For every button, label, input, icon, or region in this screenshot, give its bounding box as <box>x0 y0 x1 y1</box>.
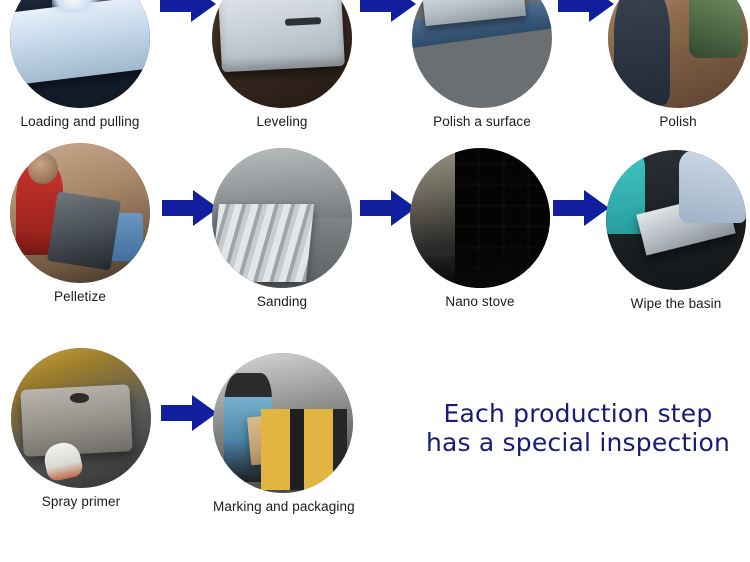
arrow-right-icon <box>360 188 416 228</box>
step-label: Spray primer <box>11 494 151 509</box>
wipe-the-basin-photo <box>606 150 746 290</box>
arrow-right-icon <box>553 188 609 228</box>
step-polish[interactable]: Polish <box>608 0 748 129</box>
arrow-right-icon <box>558 0 614 24</box>
step-wipe-the-basin[interactable]: Wipe the basin <box>606 150 746 311</box>
step-loading-and-pulling[interactable]: Loading and pulling <box>10 0 150 129</box>
polish-a-surface-photo <box>412 0 552 108</box>
step-pelletize[interactable]: Pelletize <box>10 143 150 304</box>
marking-and-packaging-photo <box>213 353 353 493</box>
polish-photo <box>608 0 748 108</box>
leveling-photo <box>212 0 352 108</box>
loading-and-pulling-photo <box>10 0 150 108</box>
step-sanding[interactable]: Sanding <box>212 148 352 309</box>
step-label: Wipe the basin <box>606 296 746 311</box>
sanding-photo <box>212 148 352 288</box>
step-spray-primer[interactable]: Spray primer <box>11 348 151 509</box>
production-flow-board: Loading and pulling Leveling Polish a su… <box>0 0 750 562</box>
step-label: Loading and pulling <box>10 114 150 129</box>
pelletize-photo <box>10 143 150 283</box>
arrow-right-icon <box>161 393 217 433</box>
arrow-right-icon <box>162 188 218 228</box>
step-label: Leveling <box>212 114 352 129</box>
arrow-right-icon <box>160 0 216 24</box>
slogan-text: Each production step has a special inspe… <box>418 399 738 457</box>
step-nano-stove[interactable]: Nano stove <box>410 148 550 309</box>
arrow-right-icon <box>360 0 416 24</box>
step-label: Polish a surface <box>412 114 552 129</box>
slogan-line-1: Each production step <box>418 399 738 428</box>
step-label: Pelletize <box>10 289 150 304</box>
step-polish-a-surface[interactable]: Polish a surface <box>412 0 552 129</box>
step-label: Sanding <box>212 294 352 309</box>
spray-primer-photo <box>11 348 151 488</box>
step-label: Polish <box>608 114 748 129</box>
nano-stove-photo <box>410 148 550 288</box>
step-label: Marking and packaging <box>213 499 353 514</box>
step-label: Nano stove <box>410 294 550 309</box>
step-marking-and-packaging[interactable]: Marking and packaging <box>213 353 353 514</box>
step-leveling[interactable]: Leveling <box>212 0 352 129</box>
slogan-line-2: has a special inspection <box>418 428 738 457</box>
